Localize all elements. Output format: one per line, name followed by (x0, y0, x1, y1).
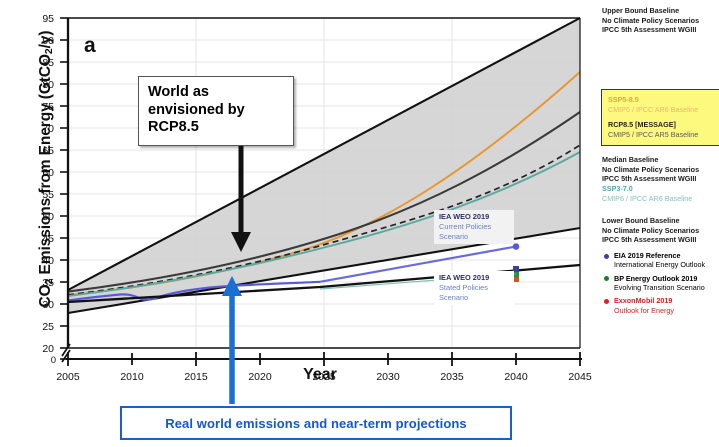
legend-exxon-sub: Outlook for Energy (614, 306, 674, 315)
legend-item-eia: EIA 2019 Reference International Energy … (604, 251, 719, 270)
legend-lower-line-2: No Climate Policy Scenarios (602, 226, 718, 236)
legend-upper-line-1: Upper Bound Baseline (602, 6, 718, 16)
legend-ssp5-title: SSP5-8.5 (608, 95, 719, 105)
svg-text:2005: 2005 (56, 371, 80, 383)
legend-bp-title: BP Energy Outlook 2019 (614, 274, 697, 283)
legend-median-line-2: No Climate Policy Scenarios (602, 165, 718, 175)
legend-rcp85-title: RCP8.5 [MESSAGE] (608, 120, 719, 130)
legend-projection-sources: EIA 2019 Reference International Energy … (604, 251, 719, 319)
legend-bp-sub: Evolving Transition Scenario (614, 283, 705, 292)
svg-text:2040: 2040 (504, 371, 528, 383)
iea-stated-title: IEA WEO 2019 (439, 273, 509, 283)
legend-eia-title: EIA 2019 Reference (614, 251, 680, 260)
legend-upper-line-3: IPCC 5th Assessment WGIII (602, 25, 718, 35)
x-axis-title: Year (260, 366, 380, 384)
iea-stated-policies-label: IEA WEO 2019 Stated Policies Scenario (434, 271, 514, 305)
legend-median-baseline: Median Baseline No Climate Policy Scenar… (602, 155, 718, 203)
legend-ssp3-sub: CMIP6 / IPCC AR6 Baseline (602, 194, 718, 204)
legend-upper-line-2: No Climate Policy Scenarios (602, 16, 718, 26)
legend-ssp3-title: SSP3-7.0 (602, 184, 718, 194)
iea-current-sub: Current Policies Scenario (439, 222, 509, 242)
svg-text:2045: 2045 (568, 371, 592, 383)
legend-exxon-title: ExxonMobil 2019 (614, 296, 672, 305)
svg-text:0: 0 (51, 355, 56, 366)
bottom-caption: Real world emissions and near-term proje… (120, 406, 512, 440)
svg-text:20: 20 (42, 343, 54, 355)
legend-eia-sub: International Energy Outlook (614, 260, 705, 269)
legend-dot-icon-bp (604, 276, 609, 281)
svg-text:2015: 2015 (184, 371, 208, 383)
legend-ssp5-sub: CMIP6 / IPCC AR6 Baseline (608, 105, 719, 115)
legend-lower-line-1: Lower Bound Baseline (602, 216, 718, 226)
legend-dot-icon-eia (604, 254, 609, 259)
legend-lower-bound: Lower Bound Baseline No Climate Policy S… (602, 216, 718, 245)
legend-item-bp: BP Energy Outlook 2019 Evolving Transiti… (604, 274, 719, 293)
legend-median-line-3: IPCC 5th Assessment WGIII (602, 174, 718, 184)
legend-item-exxonmobil: ExxonMobil 2019 Outlook for Energy (604, 296, 719, 315)
panel-letter: a (84, 34, 96, 58)
figure-panel: 95 90 85 80 75 70 65 60 55 50 45 40 35 3… (0, 0, 719, 447)
iea-current-policies-label: IEA WEO 2019 Current Policies Scenario (434, 210, 514, 244)
legend-upper-bound: Upper Bound Baseline No Climate Policy S… (602, 6, 718, 35)
svg-text:2035: 2035 (440, 371, 464, 383)
legend-rcp85-sub: CMIP5 / IPCC AR5 Baseline (608, 130, 719, 140)
y-axis-title: CO2 Emissions from Energy (GtCO2/y) (37, 19, 55, 319)
y-axis-ticks (60, 18, 68, 359)
legend-dot-icon-exxonmobil (604, 299, 609, 304)
svg-text:25: 25 (42, 321, 54, 333)
iea-current-title: IEA WEO 2019 (439, 212, 509, 222)
legend-lower-line-3: IPCC 5th Assessment WGIII (602, 235, 718, 245)
callout-box: World as envisioned by RCP8.5 (138, 76, 294, 146)
svg-text:2010: 2010 (120, 371, 144, 383)
legend-median-line-1: Median Baseline (602, 155, 718, 165)
iea-stated-sub: Stated Policies Scenario (439, 283, 509, 303)
legend-highlight-box: SSP5-8.5 CMIP6 / IPCC AR6 Baseline RCP8.… (601, 89, 719, 146)
